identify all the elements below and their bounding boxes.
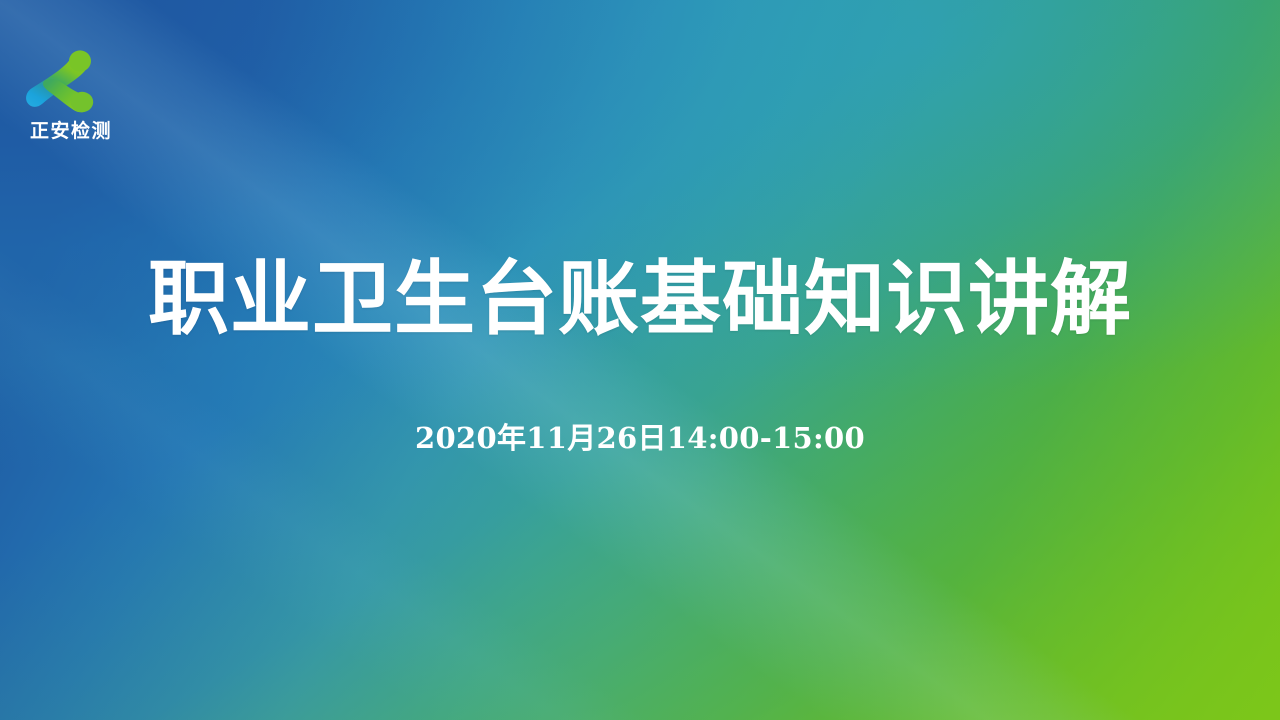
brand-name-label: 正安检测 — [8, 120, 134, 144]
presentation-title-slide: 正安检测 职业卫生台账基础知识讲解 2020年11月26日14:00-15:00 — [0, 0, 1280, 720]
session-datetime-subtitle: 2020年11月26日14:00-15:00 — [0, 418, 1280, 458]
zhengan-swoosh-logo-icon — [24, 46, 98, 118]
background-teal-glow — [0, 0, 1280, 720]
brand-logo: 正安检测 — [8, 46, 134, 150]
page-title: 职业卫生台账基础知识讲解 — [0, 252, 1280, 348]
